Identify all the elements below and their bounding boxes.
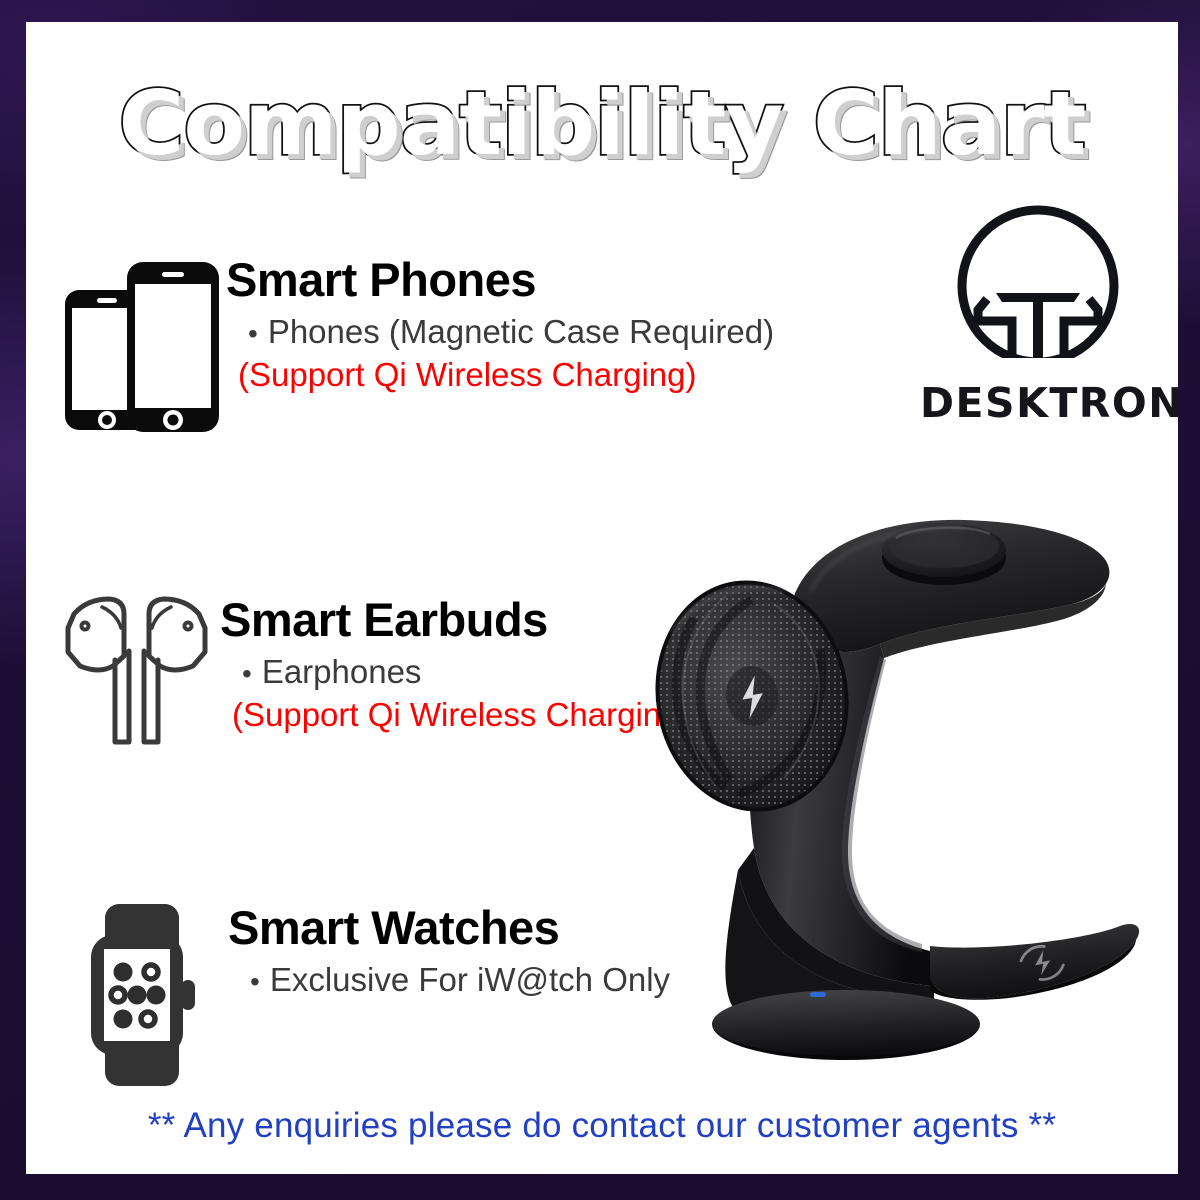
section-smart-phones: Smart Phones •Phones (Magnetic Case Requ… <box>56 254 774 434</box>
smartwatch-icon <box>56 902 228 1087</box>
section-bullet-text: Earphones <box>262 653 422 690</box>
section-bullet: •Earphones <box>242 651 691 693</box>
poster-background: Compatibility Chart <box>0 0 1200 1200</box>
page-title-container: Compatibility Chart <box>26 80 1178 168</box>
compatibility-card: Compatibility Chart <box>26 22 1178 1174</box>
section-note: (Support Qi Wireless Charging) <box>232 695 691 735</box>
two-smartphones-icon <box>56 254 226 434</box>
section-bullet: •Phones (Magnetic Case Required) <box>248 311 774 353</box>
brand-logo: DESKTRON <box>920 200 1156 424</box>
section-text-earbuds: Smart Earbuds •Earphones (Support Qi Wir… <box>220 594 691 735</box>
page-title: Compatibility Chart <box>119 80 1086 168</box>
section-bullet-text: Phones (Magnetic Case Required) <box>268 313 774 350</box>
section-text-watches: Smart Watches •Exclusive For iW@tch Only <box>228 902 670 1001</box>
bullet-marker: • <box>242 658 252 689</box>
wireless-earbuds-icon <box>56 594 220 764</box>
brand-name: DESKTRON <box>920 383 1156 424</box>
bullet-marker: • <box>250 966 260 997</box>
desktron-circle-t-logo-icon <box>920 200 1156 377</box>
section-smart-earbuds: Smart Earbuds •Earphones (Support Qi Wir… <box>56 594 691 764</box>
section-heading: Smart Watches <box>228 904 670 953</box>
section-heading: Smart Phones <box>226 256 774 305</box>
section-heading: Smart Earbuds <box>220 596 691 645</box>
section-bullet: •Exclusive For iW@tch Only <box>250 959 670 1001</box>
footer-note: ** Any enquiries please do contact our c… <box>26 1106 1178 1146</box>
section-text-phones: Smart Phones •Phones (Magnetic Case Requ… <box>226 254 774 395</box>
section-smart-watches: Smart Watches •Exclusive For iW@tch Only <box>56 902 670 1087</box>
section-note: (Support Qi Wireless Charging) <box>238 355 774 395</box>
bullet-marker: • <box>248 318 258 349</box>
product-image-charging-stand <box>634 500 1146 1070</box>
section-bullet-text: Exclusive For iW@tch Only <box>270 961 670 998</box>
